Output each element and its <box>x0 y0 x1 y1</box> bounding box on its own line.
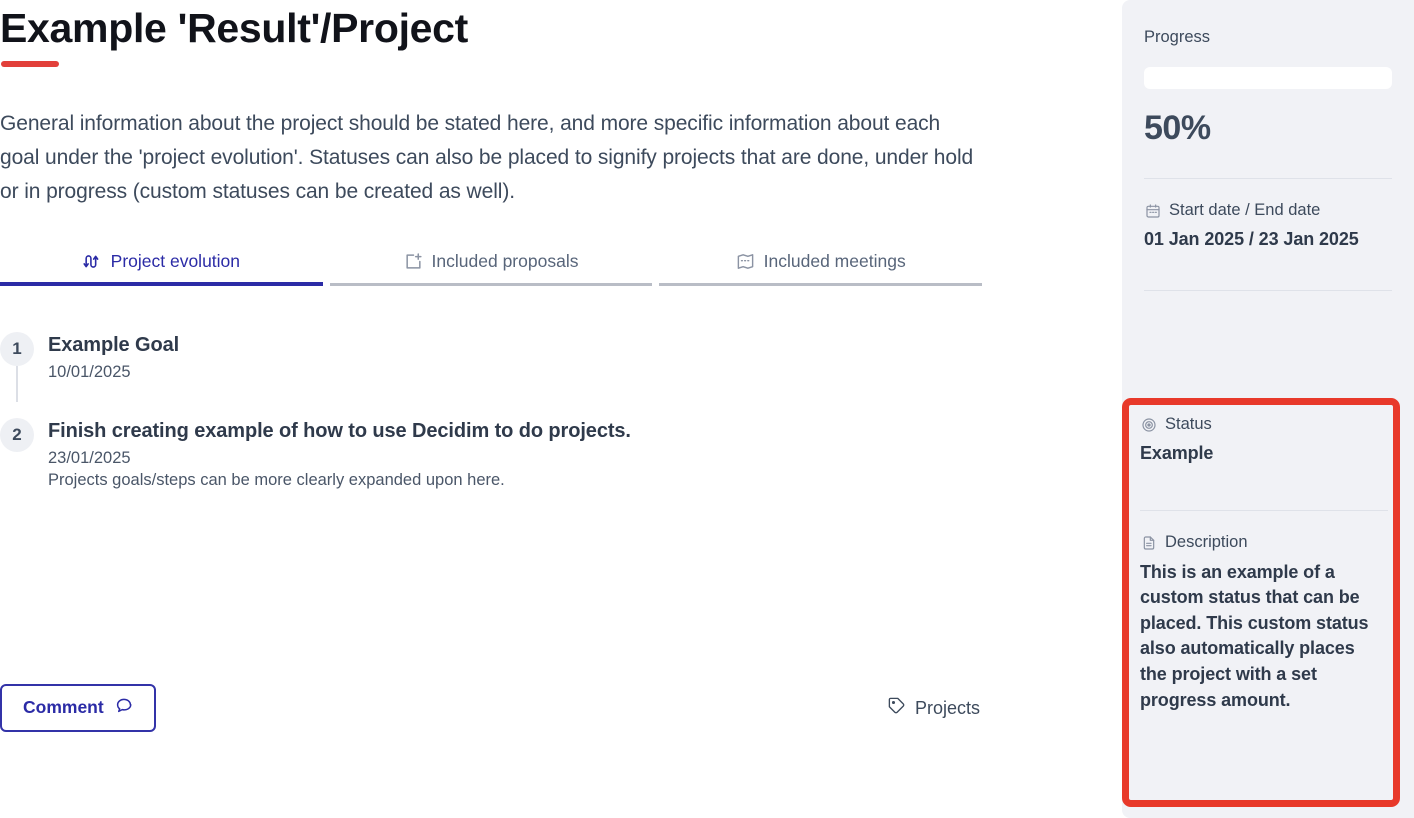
progress-label: Progress <box>1144 28 1392 48</box>
sidebar-divider <box>1144 290 1392 291</box>
dates-label: Start date / End date <box>1144 201 1392 221</box>
timeline-body: Finish creating example of how to use De… <box>48 418 631 490</box>
main-content: Example 'Result'/Project General informa… <box>0 0 1100 818</box>
timeline-title: Finish creating example of how to use De… <box>48 419 631 444</box>
progress-label-text: Progress <box>1144 28 1210 48</box>
timeline-item: 2 Finish creating example of how to use … <box>0 418 860 490</box>
title-underline-accent <box>1 61 59 67</box>
status-value: Example <box>1140 441 1388 466</box>
timeline-connector-line <box>16 366 18 402</box>
timeline-description: Projects goals/steps can be more clearly… <box>48 471 631 490</box>
folded-map-icon <box>736 252 755 271</box>
add-box-icon <box>404 252 423 271</box>
status-description-group: Status Example Description This is an ex… <box>1140 415 1388 713</box>
tab-bar: Project evolution Included proposals <box>0 251 982 286</box>
progress-bar <box>1144 67 1392 89</box>
tab-project-evolution[interactable]: Project evolution <box>0 251 323 286</box>
progress-percent-value: 50% <box>1144 109 1392 148</box>
status-label: Status <box>1140 415 1388 435</box>
description-label: Description <box>1140 533 1388 553</box>
timeline-date: 23/01/2025 <box>48 449 631 468</box>
timeline-item: 1 Example Goal 10/01/2025 <box>0 332 860 382</box>
comment-button-label: Comment <box>23 697 104 718</box>
comment-button[interactable]: Comment <box>0 684 156 732</box>
timeline-title: Example Goal <box>48 333 179 358</box>
dates-label-text: Start date / End date <box>1169 201 1320 221</box>
timeline-body: Example Goal 10/01/2025 <box>48 332 179 382</box>
tab-label: Included meetings <box>764 251 906 272</box>
projects-tag-label: Projects <box>915 698 980 719</box>
document-icon <box>1140 534 1157 551</box>
description-label-text: Description <box>1165 533 1248 553</box>
timeline-marker: 1 <box>0 332 34 366</box>
dates-block: Start date / End date 01 Jan 2025 / 23 J… <box>1144 179 1392 252</box>
status-label-text: Status <box>1165 415 1212 435</box>
action-bar: Comment Projects <box>0 684 982 732</box>
timeline-marker: 2 <box>0 418 34 452</box>
exchange-arrows-icon <box>83 252 102 271</box>
calendar-icon <box>1144 202 1161 219</box>
timeline-step-number: 2 <box>0 418 34 452</box>
timeline-step-number: 1 <box>0 332 34 366</box>
target-icon <box>1140 416 1157 433</box>
tab-label: Included proposals <box>432 251 579 272</box>
project-description-text: General information about the project sh… <box>0 107 975 209</box>
tab-included-proposals[interactable]: Included proposals <box>330 251 653 286</box>
tab-label: Project evolution <box>111 251 240 272</box>
tab-included-meetings[interactable]: Included meetings <box>659 251 982 286</box>
timeline-date: 10/01/2025 <box>48 363 179 382</box>
speech-bubble-icon <box>115 696 133 719</box>
description-block: Description This is an example of a cust… <box>1140 511 1388 713</box>
price-tag-icon <box>887 696 906 720</box>
project-page: Example 'Result'/Project General informa… <box>0 0 1414 818</box>
description-value: This is an example of a custom status th… <box>1140 560 1378 713</box>
project-evolution-timeline: 1 Example Goal 10/01/2025 2 Finish creat… <box>0 332 860 490</box>
projects-tag[interactable]: Projects <box>887 696 982 720</box>
page-title: Example 'Result'/Project <box>0 0 1100 52</box>
dates-value: 01 Jan 2025 / 23 Jan 2025 <box>1144 227 1392 252</box>
